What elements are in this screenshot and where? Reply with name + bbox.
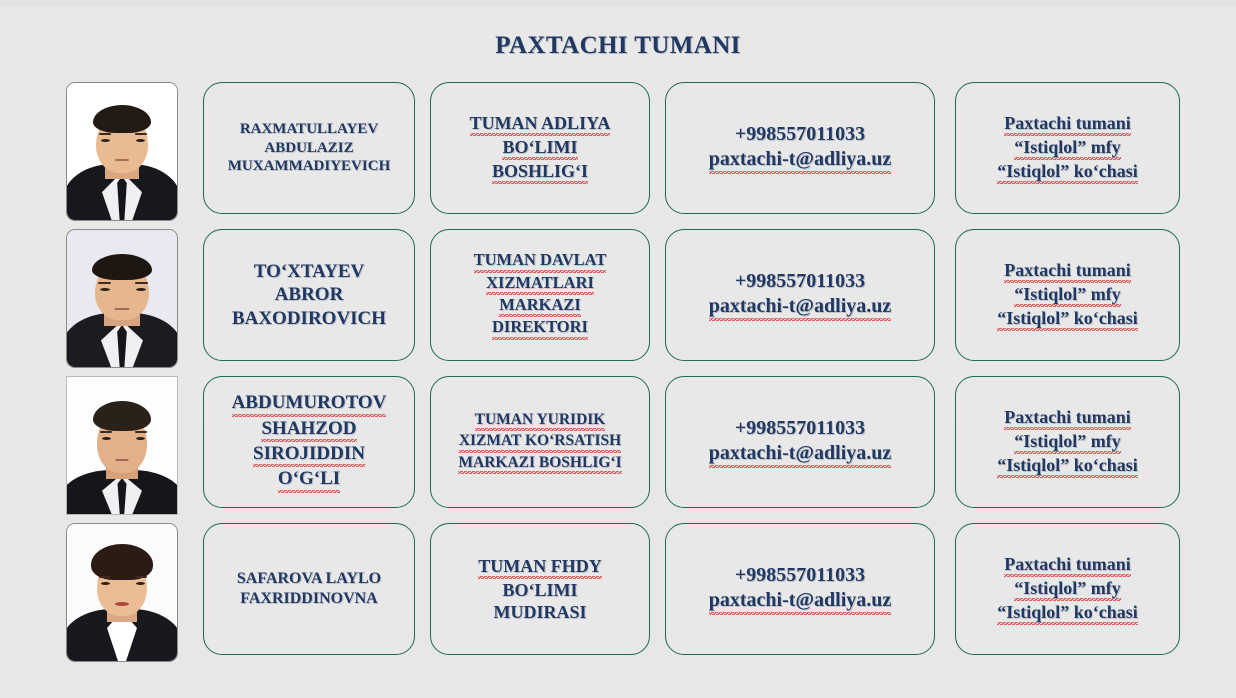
address-line: Paxtachi tumani	[1004, 112, 1131, 136]
position-line: BOSHLIG‘I	[492, 160, 588, 184]
phone-number[interactable]: +998557011033	[674, 416, 926, 441]
name-line: SIROJIDDIN	[253, 442, 365, 467]
name-line: SHAHZOD	[261, 417, 356, 442]
staff-row: RAXMATULLAYEV ABDULAZIZ MUXAMMADIYEVICH …	[0, 78, 1236, 225]
email-address[interactable]: paxtachi-t@adliya.uz	[709, 441, 892, 468]
position-line: TUMAN FHDY	[478, 555, 602, 579]
address-line: “Istiqlol” mfy	[1014, 430, 1121, 454]
address-line: “Istiqlol” ko‘chasi	[997, 601, 1138, 625]
name-line: ABDUMUROTOV	[232, 391, 387, 416]
position-line: TUMAN DAVLAT	[474, 250, 607, 272]
staff-position-card[interactable]: TUMAN ADLIYA BO‘LIMI BOSHLIG‘I	[430, 82, 650, 214]
avatar[interactable]	[66, 229, 178, 368]
staff-contact-card[interactable]: +998557011033 paxtachi-t@adliya.uz	[665, 376, 935, 508]
slide-root: PAXTACHI TUMANI	[0, 0, 1236, 698]
staff-list: RAXMATULLAYEV ABDULAZIZ MUXAMMADIYEVICH …	[0, 78, 1236, 666]
position-line: MARKAZI	[499, 295, 581, 317]
staff-contact-card[interactable]: +998557011033 paxtachi-t@adliya.uz	[665, 523, 935, 655]
name-line: ABDULAZIZ	[212, 139, 406, 157]
staff-position-card[interactable]: TUMAN FHDY BO‘LIMI MUDIRASI	[430, 523, 650, 655]
name-line: BAXODIROVICH	[212, 307, 406, 330]
address-line: Paxtachi tumani	[1004, 406, 1131, 430]
staff-row: ABDUMUROTOV SHAHZOD SIROJIDDIN O‘G‘LI TU…	[0, 372, 1236, 519]
name-line: SAFAROVA LAYLO	[212, 569, 406, 589]
name-line: TO‘XTAYEV	[212, 260, 406, 283]
avatar[interactable]	[66, 82, 178, 221]
address-line: “Istiqlol” ko‘chasi	[997, 307, 1138, 331]
staff-contact-card[interactable]: +998557011033 paxtachi-t@adliya.uz	[665, 229, 935, 361]
position-line: MARKAZI BOSHLIG‘I	[458, 453, 621, 474]
staff-address-card[interactable]: Paxtachi tumani “Istiqlol” mfy “Istiqlol…	[955, 376, 1180, 508]
email-address[interactable]: paxtachi-t@adliya.uz	[709, 147, 892, 174]
address-line: “Istiqlol” ko‘chasi	[997, 160, 1138, 184]
name-line: ABROR	[212, 283, 406, 306]
avatar[interactable]	[66, 376, 178, 515]
staff-name-card[interactable]: RAXMATULLAYEV ABDULAZIZ MUXAMMADIYEVICH	[203, 82, 415, 214]
name-line: MUXAMMADIYEVICH	[212, 157, 406, 175]
position-line: TUMAN ADLIYA	[470, 112, 611, 136]
avatar[interactable]	[66, 523, 178, 662]
address-line: Paxtachi tumani	[1004, 553, 1131, 577]
address-line: “Istiqlol” mfy	[1014, 283, 1121, 307]
name-line: O‘G‘LI	[278, 467, 340, 492]
portrait-photo[interactable]	[66, 229, 178, 368]
staff-address-card[interactable]: Paxtachi tumani “Istiqlol” mfy “Istiqlol…	[955, 229, 1180, 361]
position-line: XIZMATLARI	[486, 273, 594, 295]
name-line: FAXRIDDINOVNA	[212, 589, 406, 609]
staff-name-card[interactable]: SAFAROVA LAYLO FAXRIDDINOVNA	[203, 523, 415, 655]
staff-row: TO‘XTAYEV ABROR BAXODIROVICH TUMAN DAVLA…	[0, 225, 1236, 372]
page-title: PAXTACHI TUMANI	[0, 32, 1236, 60]
position-line: BO‘LIMI	[502, 136, 577, 160]
staff-row: SAFAROVA LAYLO FAXRIDDINOVNA TUMAN FHDY …	[0, 519, 1236, 666]
portrait-photo[interactable]	[66, 376, 178, 515]
position-line: XIZMAT KO‘RSATISH	[459, 431, 621, 452]
phone-number[interactable]: +998557011033	[674, 563, 926, 588]
portrait-photo[interactable]	[66, 523, 178, 662]
staff-position-card[interactable]: TUMAN DAVLAT XIZMATLARI MARKAZI DIREKTOR…	[430, 229, 650, 361]
address-line: “Istiqlol” mfy	[1014, 577, 1121, 601]
address-line: “Istiqlol” ko‘chasi	[997, 454, 1138, 478]
name-line: RAXMATULLAYEV	[212, 120, 406, 138]
email-address[interactable]: paxtachi-t@adliya.uz	[709, 294, 892, 321]
staff-name-card[interactable]: TO‘XTAYEV ABROR BAXODIROVICH	[203, 229, 415, 361]
staff-address-card[interactable]: Paxtachi tumani “Istiqlol” mfy “Istiqlol…	[955, 523, 1180, 655]
address-line: “Istiqlol” mfy	[1014, 136, 1121, 160]
position-line: DIREKTORI	[492, 317, 588, 339]
portrait-photo[interactable]	[66, 82, 178, 221]
staff-contact-card[interactable]: +998557011033 paxtachi-t@adliya.uz	[665, 82, 935, 214]
position-line: TUMAN YURIDIK	[475, 410, 606, 431]
phone-number[interactable]: +998557011033	[674, 269, 926, 294]
address-line: Paxtachi tumani	[1004, 259, 1131, 283]
staff-position-card[interactable]: TUMAN YURIDIK XIZMAT KO‘RSATISH MARKAZI …	[430, 376, 650, 508]
email-address[interactable]: paxtachi-t@adliya.uz	[709, 588, 892, 615]
staff-address-card[interactable]: Paxtachi tumani “Istiqlol” mfy “Istiqlol…	[955, 82, 1180, 214]
phone-number[interactable]: +998557011033	[674, 122, 926, 147]
position-line: MUDIRASI	[439, 601, 641, 623]
staff-name-card[interactable]: ABDUMUROTOV SHAHZOD SIROJIDDIN O‘G‘LI	[203, 376, 415, 508]
position-line: BO‘LIMI	[439, 579, 641, 601]
